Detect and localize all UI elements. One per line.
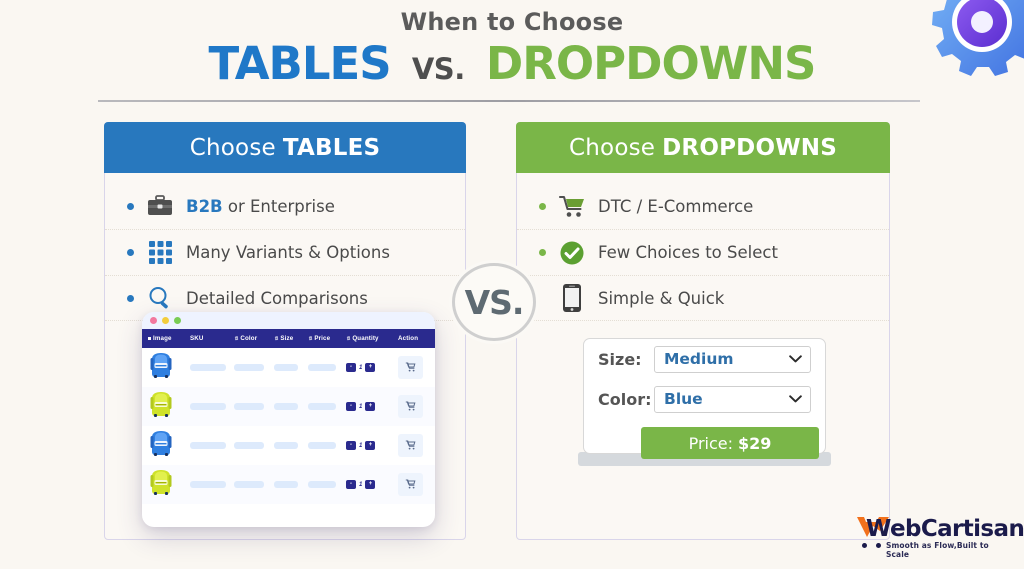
list-item-label: B2B or Enterprise — [186, 197, 335, 216]
cell-price — [308, 364, 346, 371]
vs-badge: VS. — [452, 263, 536, 341]
cell-size — [274, 403, 308, 410]
page-title: TABLES VS. DROPDOWNS — [0, 40, 1024, 87]
dropdown-card: Size: Medium Color: Blue Price:$29 — [583, 338, 826, 454]
qty-plus-button[interactable]: + — [365, 402, 375, 411]
window-maximize-dot[interactable] — [174, 317, 181, 324]
briefcase-icon — [144, 191, 176, 221]
panel-tables-header-prefix: Choose — [190, 135, 276, 161]
product-thumbnail — [142, 428, 190, 463]
infographic-canvas: When to Choose TABLES VS. DROPDOWNS Choo… — [0, 0, 1024, 569]
qty-value: 1 — [359, 365, 362, 371]
price-value: $29 — [738, 434, 771, 453]
add-to-cart-button[interactable] — [398, 359, 434, 377]
size-label: Size: — [598, 350, 646, 369]
bullet-dot — [539, 249, 546, 256]
add-to-cart-button[interactable] — [398, 398, 434, 416]
color-select-value: Blue — [664, 390, 703, 408]
size-row: Size: Medium — [584, 339, 825, 379]
list-item-rest: or Enterprise — [223, 197, 335, 216]
dropdowns-benefit-list: DTC / E-Commerce Few Choices to Select — [517, 173, 889, 321]
title-dropdowns: DROPDOWNS — [486, 37, 816, 90]
qty-value: 1 — [359, 482, 362, 488]
brand-tagline: Smooth as Flow,Built to Scale — [886, 541, 1014, 559]
qty-minus-button[interactable]: - — [346, 480, 356, 489]
list-item-rest: Few Choices to Select — [598, 243, 778, 262]
quantity-stepper[interactable]: - 1 + — [346, 363, 398, 372]
color-row: Color: Blue — [584, 379, 825, 419]
cart-icon — [405, 401, 416, 411]
list-item-label: Few Choices to Select — [598, 243, 778, 262]
column-header-color[interactable]: ⇅Color — [234, 335, 274, 342]
qty-value: 1 — [359, 404, 362, 410]
header-divider — [98, 100, 920, 102]
cell-size — [274, 364, 308, 371]
column-header-price[interactable]: ⇅Price — [308, 335, 346, 342]
cell-color — [234, 481, 274, 488]
brand-name: WebCartisan — [866, 516, 1024, 542]
panel-dropdowns-header-prefix: Choose — [569, 135, 655, 161]
cell-sku — [190, 403, 234, 410]
shopping-cart-icon — [556, 191, 588, 221]
table-row: - 1 + — [142, 387, 435, 426]
quantity-stepper[interactable]: - 1 + — [346, 402, 398, 411]
brand-dots — [862, 543, 881, 548]
chevron-down-icon — [789, 355, 802, 363]
grid-icon — [144, 238, 176, 268]
cell-sku — [190, 481, 234, 488]
price-button[interactable]: Price:$29 — [641, 427, 819, 459]
qty-plus-button[interactable]: + — [365, 363, 375, 372]
cell-price — [308, 442, 346, 449]
price-label: Price: — [689, 434, 733, 453]
add-to-cart-button[interactable] — [398, 437, 434, 455]
cart-icon — [405, 440, 416, 450]
title-vs: VS. — [412, 52, 465, 86]
size-select[interactable]: Medium — [654, 346, 811, 373]
smartphone-icon — [556, 283, 588, 313]
color-select[interactable]: Blue — [654, 386, 811, 413]
tables-benefit-list: B2B or Enterprise Many Variants & Option… — [105, 173, 465, 321]
list-item-highlight: B2B — [186, 197, 223, 216]
product-thumbnail — [142, 350, 190, 385]
list-item: Few Choices to Select — [517, 229, 889, 275]
qty-minus-button[interactable]: - — [346, 441, 356, 450]
page-header: When to Choose TABLES VS. DROPDOWNS — [0, 8, 1024, 87]
bullet-dot — [539, 203, 546, 210]
list-item: Simple & Quick — [517, 275, 889, 321]
list-item: DTC / E-Commerce — [517, 183, 889, 229]
panel-tables-header-strong: TABLES — [283, 135, 380, 161]
list-item-rest: Detailed Comparisons — [186, 289, 368, 308]
window-close-dot[interactable] — [150, 317, 157, 324]
table-row: - 1 + — [142, 348, 435, 387]
table-row: - 1 + — [142, 426, 435, 465]
size-select-value: Medium — [664, 350, 734, 368]
list-item-rest: Many Variants & Options — [186, 243, 390, 262]
list-item-label: Many Variants & Options — [186, 243, 390, 262]
list-item-label: Simple & Quick — [598, 289, 724, 308]
list-item-label: DTC / E-Commerce — [598, 197, 753, 216]
qty-plus-button[interactable]: + — [365, 441, 375, 450]
bullet-dot — [127, 203, 134, 210]
qty-value: 1 — [359, 443, 362, 449]
brand-logo: WebCartisan Smooth as Flow,Built to Scal… — [848, 516, 1014, 556]
cell-color — [234, 403, 274, 410]
column-header-action: Action — [398, 335, 434, 342]
column-header-image[interactable]: Image — [142, 335, 190, 342]
cart-icon — [405, 479, 416, 489]
chevron-down-icon — [789, 395, 802, 403]
cell-color — [234, 364, 274, 371]
cell-size — [274, 442, 308, 449]
qty-minus-button[interactable]: - — [346, 363, 356, 372]
qty-minus-button[interactable]: - — [346, 402, 356, 411]
bullet-dot — [127, 295, 134, 302]
panel-tables-header: ChooseTABLES — [104, 122, 466, 173]
cell-price — [308, 481, 346, 488]
list-item: Many Variants & Options — [105, 229, 465, 275]
check-circle-icon — [556, 238, 588, 268]
panel-dropdowns-header: ChooseDROPDOWNS — [516, 122, 890, 173]
window-minimize-dot[interactable] — [162, 317, 169, 324]
quantity-stepper[interactable]: - 1 + — [346, 441, 398, 450]
panel-dropdowns-header-strong: DROPDOWNS — [662, 135, 837, 161]
table-header-row: Image SKU ⇅Color ⇅Size ⇅Price ⇅Quantity … — [142, 329, 435, 348]
list-item: B2B or Enterprise — [105, 183, 465, 229]
kicker-text: When to Choose — [0, 8, 1024, 36]
table-mockup-window: Image SKU ⇅Color ⇅Size ⇅Price ⇅Quantity … — [142, 312, 435, 527]
list-item-rest: DTC / E-Commerce — [598, 197, 753, 216]
column-header-size[interactable]: ⇅Size — [274, 335, 308, 342]
cell-price — [308, 403, 346, 410]
list-item-label: Detailed Comparisons — [186, 289, 368, 308]
qty-plus-button[interactable]: + — [365, 480, 375, 489]
cell-color — [234, 442, 274, 449]
product-thumbnail — [142, 389, 190, 424]
quantity-stepper[interactable]: - 1 + — [346, 480, 398, 489]
cart-icon — [405, 362, 416, 372]
color-label: Color: — [598, 390, 646, 409]
column-header-sku[interactable]: SKU — [190, 335, 234, 342]
product-thumbnail — [142, 467, 190, 502]
title-tables: TABLES — [209, 37, 391, 90]
vs-badge-label: VS. — [465, 283, 524, 322]
window-titlebar — [142, 312, 435, 329]
bullet-dot — [127, 249, 134, 256]
magnifier-icon — [144, 283, 176, 313]
panel-dropdowns: ChooseDROPDOWNS DTC / E-Commerce — [516, 122, 890, 540]
add-to-cart-button[interactable] — [398, 476, 434, 494]
column-header-quantity[interactable]: ⇅Quantity — [346, 335, 398, 342]
cell-sku — [190, 442, 234, 449]
cell-size — [274, 481, 308, 488]
table-row: - 1 + — [142, 465, 435, 504]
cell-sku — [190, 364, 234, 371]
list-item-rest: Simple & Quick — [598, 289, 724, 308]
